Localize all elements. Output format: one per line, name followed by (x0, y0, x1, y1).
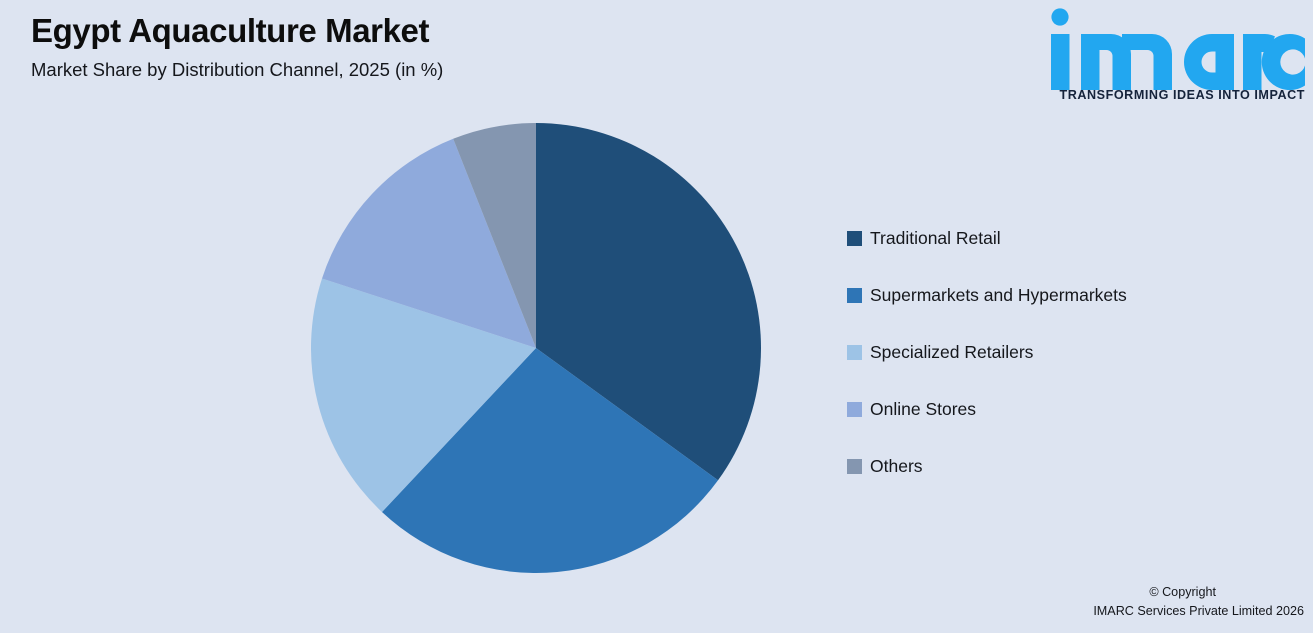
chart-header: Egypt Aquaculture Market Market Share by… (31, 12, 731, 80)
pie-chart (311, 123, 761, 573)
legend-item-others[interactable]: Others (847, 438, 1287, 495)
page-subtitle: Market Share by Distribution Channel, 20… (31, 59, 731, 80)
copyright-line-2: IMARC Services Private Limited 2026 (1093, 602, 1304, 622)
page-title: Egypt Aquaculture Market (31, 12, 731, 50)
imarc-logo: TRANSFORMING IDEAS INTO IMPACT (1039, 8, 1305, 116)
legend-swatch-icon (847, 288, 862, 303)
imarc-wordmark-icon (1043, 8, 1305, 90)
copyright-line-1: © Copyright (1093, 583, 1304, 603)
legend-swatch-icon (847, 402, 862, 417)
pie-slice-group (311, 123, 761, 573)
legend-swatch-icon (847, 231, 862, 246)
legend-item-specialized-retailers[interactable]: Specialized Retailers (847, 324, 1287, 381)
legend-label: Supermarkets and Hypermarkets (870, 287, 1127, 305)
legend-item-traditional-retail[interactable]: Traditional Retail (847, 210, 1287, 267)
legend-label: Traditional Retail (870, 230, 1001, 248)
logo-tagline: TRANSFORMING IDEAS INTO IMPACT (1039, 88, 1305, 102)
legend-label: Others (870, 458, 923, 476)
legend-swatch-icon (847, 345, 862, 360)
legend-item-supermarkets-and-hypermarkets[interactable]: Supermarkets and Hypermarkets (847, 267, 1287, 324)
chart-legend: Traditional Retail Supermarkets and Hype… (847, 210, 1287, 495)
copyright-block: © Copyright IMARC Services Private Limit… (1093, 583, 1304, 622)
pie-chart-svg (311, 123, 761, 573)
legend-item-online-stores[interactable]: Online Stores (847, 381, 1287, 438)
legend-label: Specialized Retailers (870, 344, 1033, 362)
legend-swatch-icon (847, 459, 862, 474)
legend-label: Online Stores (870, 401, 976, 419)
